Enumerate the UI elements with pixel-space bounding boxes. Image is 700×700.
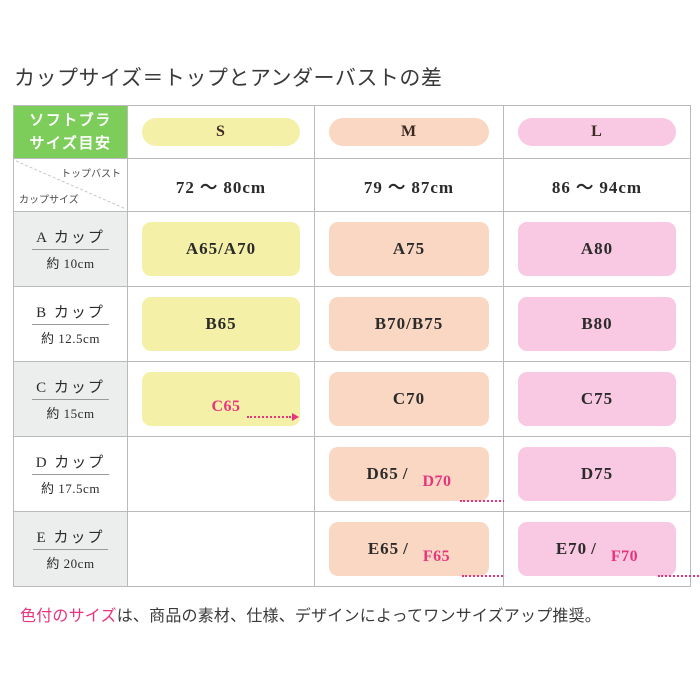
cell-b-m: B70/B75 xyxy=(315,287,504,362)
size-box: C75 xyxy=(518,372,676,426)
axis-label-cup-size: カップサイズ xyxy=(19,191,79,206)
row-approx-label: 約 20cm xyxy=(14,553,127,572)
page-title: カップサイズ＝トップとアンダーバストの差 xyxy=(14,62,442,92)
cell-b-s: B65 xyxy=(128,287,315,362)
size-box-label: D65 xyxy=(366,464,398,484)
bust-range-s: 72 ～ 80cm xyxy=(128,159,315,212)
cell-e-s xyxy=(128,512,315,587)
corner-brand-line1: ソフトブラ xyxy=(14,109,127,132)
table-row: A カップ 約 10cm A65/A70 A75 A80 xyxy=(14,212,691,287)
size-box-label: E70 xyxy=(556,539,587,559)
size-box-label: B80 xyxy=(581,314,612,334)
size-header-l: L xyxy=(504,106,691,159)
table-header-row-ranges: トップバスト カップサイズ 72 ～ 80cm 79 ～ 87cm 86 ～ 9… xyxy=(14,159,691,212)
row-header-d: D カップ 約 17.5cm xyxy=(14,437,128,512)
axis-corner-cell: トップバスト カップサイズ xyxy=(14,159,128,212)
size-box: C70 xyxy=(329,372,489,426)
row-cup-label: C カップ xyxy=(32,376,109,400)
bust-range-l: 86 ～ 94cm xyxy=(504,159,691,212)
size-header-s: S xyxy=(128,106,315,159)
row-approx-label: 約 17.5cm xyxy=(14,478,127,497)
footnote-highlight: 色付のサイズ xyxy=(20,606,117,625)
row-header-e: E カップ 約 20cm xyxy=(14,512,128,587)
size-box-label: A65/A70 xyxy=(186,239,256,259)
row-approx-label: 約 15cm xyxy=(14,403,127,422)
corner-brand-cell: ソフトブラ サイズ目安 xyxy=(14,106,128,159)
upsize-arrow-icon xyxy=(247,412,299,422)
size-box-secondary-label: F70 xyxy=(611,548,638,566)
size-box: B70/B75 xyxy=(329,297,489,351)
cell-c-l: C75 xyxy=(504,362,691,437)
size-box-secondary-label: F65 xyxy=(423,548,450,566)
size-box-secondary-label: D70 xyxy=(422,473,451,491)
size-box: A75 xyxy=(329,222,489,276)
size-box-separator: / xyxy=(591,539,597,559)
cell-d-l: D75 xyxy=(504,437,691,512)
size-box-secondary-label: C65 xyxy=(211,398,240,416)
cell-c-m: C70 xyxy=(315,362,504,437)
size-box: A80 xyxy=(518,222,676,276)
size-box-label: D75 xyxy=(581,464,613,484)
size-box-label: C75 xyxy=(581,389,613,409)
size-header-m: M xyxy=(315,106,504,159)
footnote: 色付のサイズは、商品の素材、仕様、デザインによってワンサイズアップ推奨。 xyxy=(20,602,601,626)
table-row: C カップ 約 15cm C65 C70 xyxy=(14,362,691,437)
corner-brand-line2: サイズ目安 xyxy=(14,132,127,155)
size-box-empty xyxy=(142,447,300,501)
cell-a-l: A80 xyxy=(504,212,691,287)
row-cup-label: B カップ xyxy=(32,301,109,325)
size-box: E70 / F70 xyxy=(518,522,676,576)
table-row: E カップ 約 20cm E65 / F65 xyxy=(14,512,691,587)
size-table: ソフトブラ サイズ目安 S M L xyxy=(13,105,691,587)
size-box: B65 xyxy=(142,297,300,351)
row-cup-label: E カップ xyxy=(33,526,109,550)
size-box: B80 xyxy=(518,297,676,351)
size-box-label: A80 xyxy=(581,239,613,259)
upsize-arrow-icon xyxy=(658,571,700,581)
cell-b-l: B80 xyxy=(504,287,691,362)
footnote-rest: は、商品の素材、仕様、デザインによってワンサイズアップ推奨。 xyxy=(117,606,601,625)
size-box: E65 / F65 xyxy=(329,522,489,576)
axis-label-top-bust: トップバスト xyxy=(61,165,121,180)
size-box: A65/A70 xyxy=(142,222,300,276)
cell-d-s xyxy=(128,437,315,512)
table-row: D カップ 約 17.5cm D65 / D70 xyxy=(14,437,691,512)
row-header-c: C カップ 約 15cm xyxy=(14,362,128,437)
size-box-separator: / xyxy=(403,539,409,559)
size-box-empty xyxy=(142,522,300,576)
size-box-label: E65 xyxy=(368,539,399,559)
cell-d-m: D65 / D70 xyxy=(315,437,504,512)
size-box-label: B65 xyxy=(205,314,236,334)
cell-a-m: A75 xyxy=(315,212,504,287)
row-cup-label: A カップ xyxy=(32,226,109,250)
size-box: C65 xyxy=(142,372,300,426)
cell-a-s: A65/A70 xyxy=(128,212,315,287)
cell-e-l: E70 / F70 xyxy=(504,512,691,587)
size-chart-page: カップサイズ＝トップとアンダーバストの差 ソフトブラ サイズ目安 S M L xyxy=(0,0,700,700)
table-header-row-sizes: ソフトブラ サイズ目安 S M L xyxy=(14,106,691,159)
size-box-label: C70 xyxy=(393,389,425,409)
size-box-label: A75 xyxy=(393,239,425,259)
size-box-label: B70/B75 xyxy=(375,314,443,334)
row-approx-label: 約 10cm xyxy=(14,253,127,272)
bust-range-m: 79 ～ 87cm xyxy=(315,159,504,212)
size-box: D75 xyxy=(518,447,676,501)
row-cup-label: D カップ xyxy=(32,451,110,475)
row-approx-label: 約 12.5cm xyxy=(14,328,127,347)
size-pill-m: M xyxy=(329,118,489,146)
size-pill-l: L xyxy=(518,118,676,146)
size-box: D65 / D70 xyxy=(329,447,489,501)
size-box-separator: / xyxy=(403,464,409,484)
table-row: B カップ 約 12.5cm B65 B70/B75 B80 xyxy=(14,287,691,362)
cell-c-s: C65 xyxy=(128,362,315,437)
row-header-b: B カップ 約 12.5cm xyxy=(14,287,128,362)
row-header-a: A カップ 約 10cm xyxy=(14,212,128,287)
cell-e-m: E65 / F65 xyxy=(315,512,504,587)
size-pill-s: S xyxy=(142,118,300,146)
